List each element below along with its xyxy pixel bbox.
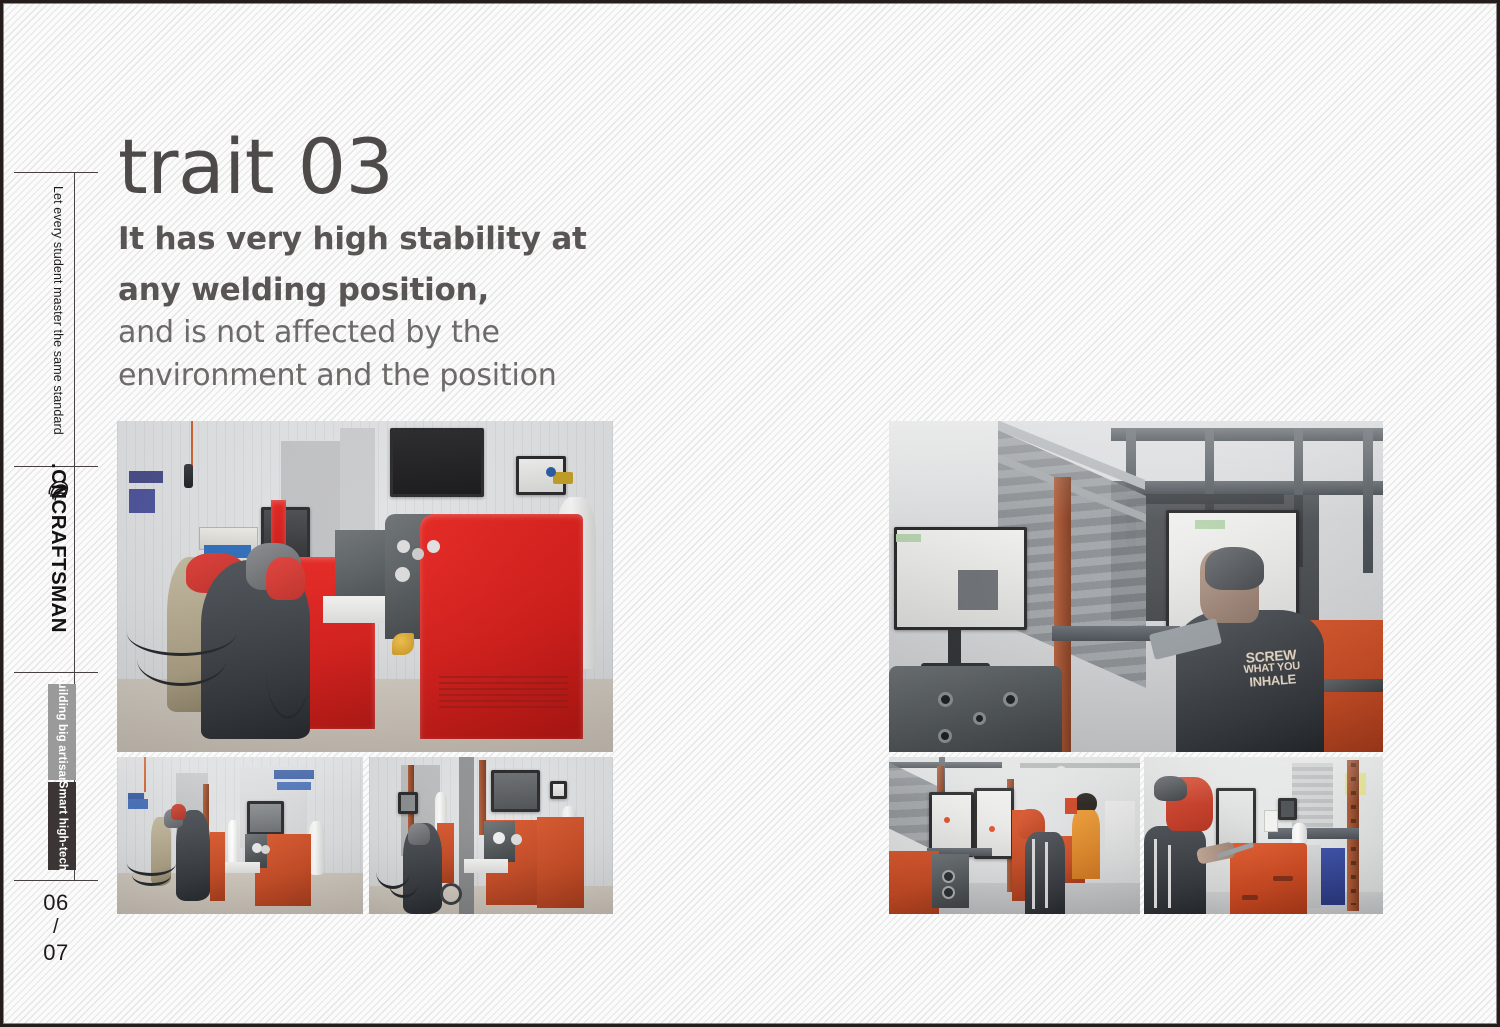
- badge-building-big-artisans: Building big artisans: [48, 684, 76, 780]
- brand-block: .CNCRAFTSMAN: [40, 476, 76, 666]
- sidebar-divider-pageno: [14, 880, 98, 881]
- photo-thumb-right-2: [1144, 757, 1383, 914]
- photo-scene: SCREW WHAT YOU INHALE: [889, 421, 1383, 752]
- photo-main-right: SCREW WHAT YOU INHALE: [889, 421, 1383, 752]
- photo-scene: [117, 757, 363, 914]
- page-number-bottom: 07: [14, 940, 98, 965]
- sidebar-badges: Building big artisans Smart high-tech: [48, 684, 76, 870]
- photo-scene: [117, 421, 613, 752]
- subtitle-bold-line-1: It has very high stability at: [118, 219, 758, 260]
- photo-scene: [369, 757, 613, 914]
- page-title: trait 03: [118, 125, 758, 209]
- photo-thumb-left-1: [117, 757, 363, 914]
- subtitle-light-line-1: and is not affected by the: [118, 312, 758, 354]
- brochure-page: Let every student master the same standa…: [0, 0, 1500, 1027]
- badge-label: Smart high-tech: [56, 781, 68, 872]
- page-number: 06 / 07: [14, 890, 98, 965]
- photo-scene: [889, 757, 1140, 914]
- page-number-separator: /: [14, 915, 98, 940]
- photo-thumb-right-1: [889, 757, 1140, 914]
- sidebar-tagline: Let every student master the same standa…: [44, 186, 72, 456]
- headline-block: trait 03 It has very high stability at a…: [118, 125, 758, 397]
- subtitle-bold-line-2: any welding position,: [118, 270, 758, 311]
- page-number-top: 06: [14, 890, 98, 915]
- badge-label: Building big artisans: [56, 673, 68, 791]
- brand-name: .CNCRAFTSMAN: [43, 463, 73, 643]
- sidebar: Let every student master the same standa…: [0, 0, 112, 1027]
- photo-main-left: [117, 421, 613, 752]
- photo-scene: [1144, 757, 1383, 914]
- photo-thumb-left-2: [369, 757, 613, 914]
- sidebar-divider-top: [14, 172, 98, 173]
- subtitle-light-line-2: environment and the position: [118, 355, 758, 397]
- badge-smart-high-tech: Smart high-tech: [48, 782, 76, 870]
